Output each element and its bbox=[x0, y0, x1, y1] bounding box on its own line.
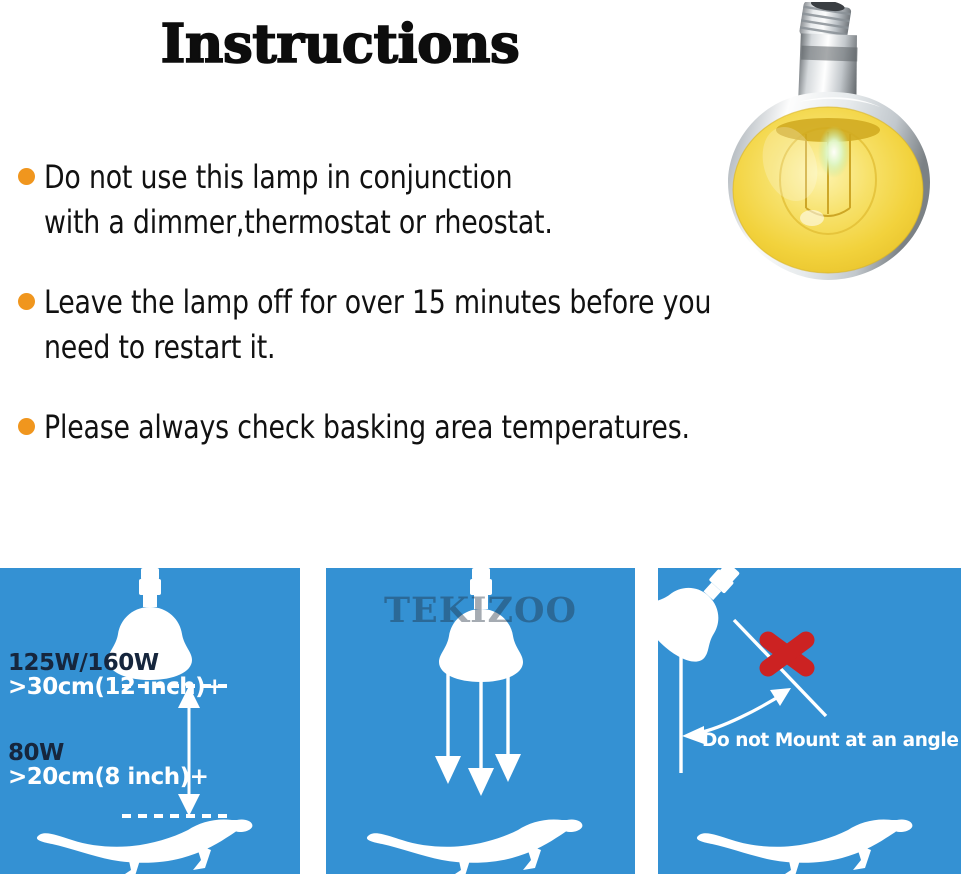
instruction-text: Do not use this lamp in conjunction with… bbox=[44, 155, 553, 246]
panel-mounting-distance: 125W/160W >30cm(12 inch)+ 80W >20cm(8 in… bbox=[0, 568, 300, 874]
page-title: Instructions bbox=[0, 18, 680, 71]
spec-distance: >30cm(12 inch)+ bbox=[8, 675, 224, 699]
spec-125w-160w: 125W/160W >30cm(12 inch)+ bbox=[8, 651, 224, 699]
spec-wattage: 125W/160W bbox=[8, 651, 224, 675]
panel-heat-radiation: TEKIZOO bbox=[326, 568, 635, 874]
list-item: Leave the lamp off for over 15 minutes b… bbox=[0, 280, 940, 371]
no-angle-mount-diagram-icon bbox=[658, 568, 961, 874]
bullet-dot-icon bbox=[18, 168, 35, 185]
list-item: Do not use this lamp in conjunction with… bbox=[0, 155, 940, 246]
spec-80w: 80W >20cm(8 inch)+ bbox=[8, 741, 208, 789]
diagram-panel-row: 125W/160W >30cm(12 inch)+ 80W >20cm(8 in… bbox=[0, 568, 961, 874]
instruction-text: Leave the lamp off for over 15 minutes b… bbox=[44, 280, 711, 371]
bullet-dot-icon bbox=[18, 293, 35, 310]
red-x-icon bbox=[768, 640, 806, 668]
bullet-dot-icon bbox=[18, 418, 35, 435]
panel-no-angle-mount: Do not Mount at an angle bbox=[658, 568, 961, 874]
spec-distance: >20cm(8 inch)+ bbox=[8, 765, 208, 789]
heat-radiation-diagram-icon bbox=[326, 568, 635, 874]
list-item: Please always check basking area tempera… bbox=[0, 405, 940, 450]
spec-wattage: 80W bbox=[8, 741, 208, 765]
no-angle-caption: Do not Mount at an angle bbox=[702, 730, 958, 751]
instructions-list: Do not use this lamp in conjunction with… bbox=[0, 155, 940, 484]
distance-diagram-icon bbox=[0, 568, 300, 874]
instruction-text: Please always check basking area tempera… bbox=[44, 405, 690, 450]
